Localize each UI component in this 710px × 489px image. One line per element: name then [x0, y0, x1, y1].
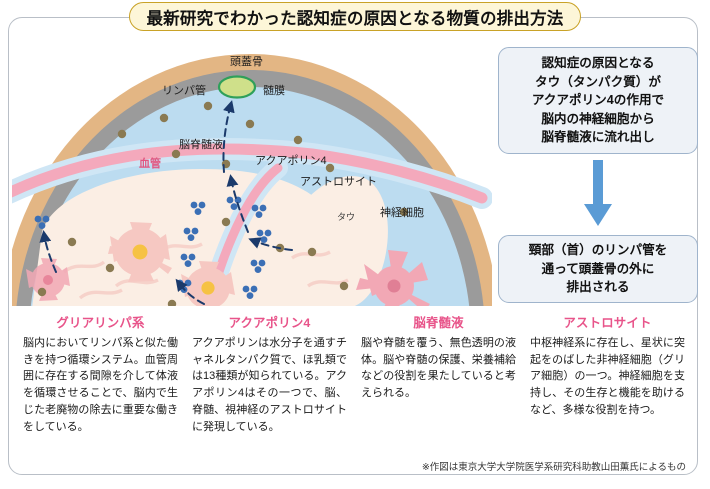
- glossary-body-1: アクアポリンは水分子を通すチャネルタンパク質で、ほ乳類では13種類が知られている…: [192, 335, 347, 435]
- label-csf: 脳脊髄液: [179, 136, 223, 152]
- glossary-body-3: 中枢神経系に存在し、星状に突起をのばした非神経細胞（グリア細胞）の一つ。神経細胞…: [530, 335, 685, 419]
- glossary-body-0: 脳内においてリンパ系と似た働きを持つ循環システム。血管周囲に存在する間隙を介して…: [23, 335, 178, 435]
- label-meninges: 髄膜: [263, 82, 285, 98]
- label-lymph-vessel: リンパ管: [162, 82, 206, 98]
- label-tau: タウ: [337, 210, 355, 223]
- label-neuron: 神経細胞: [380, 204, 424, 220]
- callout-2-text: 頸部（首）のリンパ管を通って頭蓋骨の外に排出される: [529, 241, 668, 297]
- glossary-item-2: 脳脊髄液 脳や脊髄を覆う、無色透明の液体。脳や脊髄の保護、栄養補給などの役割を果…: [354, 313, 523, 458]
- callout-line: 認知症の原因となる: [542, 56, 655, 70]
- callout-outcome: 頸部（首）のリンパ管を通って頭蓋骨の外に排出される: [498, 235, 698, 303]
- glossary-item-3: アストロサイト 中枢神経系に存在し、星状に突起をのばした非神経細胞（グリア細胞）…: [523, 313, 692, 458]
- lymph-vessel-shape: [219, 77, 255, 98]
- callout-line: タウ（タンパク質）が: [535, 75, 661, 89]
- callout-line: 通って頭蓋骨の外に: [542, 262, 655, 276]
- label-blood-vessel: 血管: [139, 155, 161, 171]
- callout-line: アクアポリン4の作用で: [532, 93, 664, 107]
- label-astrocyte: アストロサイト: [300, 173, 377, 189]
- callout-mechanism: 認知症の原因となるタウ（タンパク質）がアクアポリン4の作用で脳内の神経細胞から脳…: [498, 47, 698, 154]
- callout-line: 排出される: [567, 280, 630, 294]
- credit-note: ※作図は東京大学大学院医学系研究科助教山田薫氏によるもの: [422, 459, 686, 473]
- glossary-item-1: アクアポリン4 アクアポリンは水分子を通すチャネルタンパク質で、ほ乳類では13種…: [185, 313, 354, 458]
- page-title-banner: 最新研究でわかった認知症の原因となる物質の排出方法: [129, 2, 581, 31]
- glossary-heading-3: アストロサイト: [530, 313, 685, 331]
- page-title: 最新研究でわかった認知症の原因となる物質の排出方法: [146, 5, 563, 29]
- glossary-body-2: 脳や脊髄を覆う、無色透明の液体。脳や脊髄の保護、栄養補給などの役割を果たしている…: [361, 335, 516, 402]
- label-aquaporin4: アクアポリン4: [255, 152, 327, 168]
- flow-arrow-down-icon: [582, 160, 614, 228]
- glossary-heading-1: アクアポリン4: [192, 313, 347, 331]
- label-skull: 頭蓋骨: [230, 53, 263, 69]
- callout-line: 頸部（首）のリンパ管を: [529, 243, 668, 257]
- callout-line: 脳脊髄液に流れ出し: [541, 130, 654, 144]
- glossary-heading-0: グリアリンパ系: [23, 313, 178, 331]
- glossary-heading-2: 脳脊髄液: [361, 313, 516, 331]
- callout-line: 脳内の神経細胞から: [541, 112, 654, 126]
- brain-diagram: 頭蓋骨 リンパ管 髄膜 脳脊髄液 血管 アクアポリン4 アストロサイト タウ 神…: [12, 36, 492, 306]
- glossary-columns: グリアリンパ系 脳内においてリンパ系と似た働きを持つ循環システム。血管周囲に存在…: [16, 313, 692, 458]
- callout-1-text: 認知症の原因となるタウ（タンパク質）がアクアポリン4の作用で脳内の神経細胞から脳…: [532, 54, 664, 147]
- glossary-item-0: グリアリンパ系 脳内においてリンパ系と似た働きを持つ循環システム。血管周囲に存在…: [16, 313, 185, 458]
